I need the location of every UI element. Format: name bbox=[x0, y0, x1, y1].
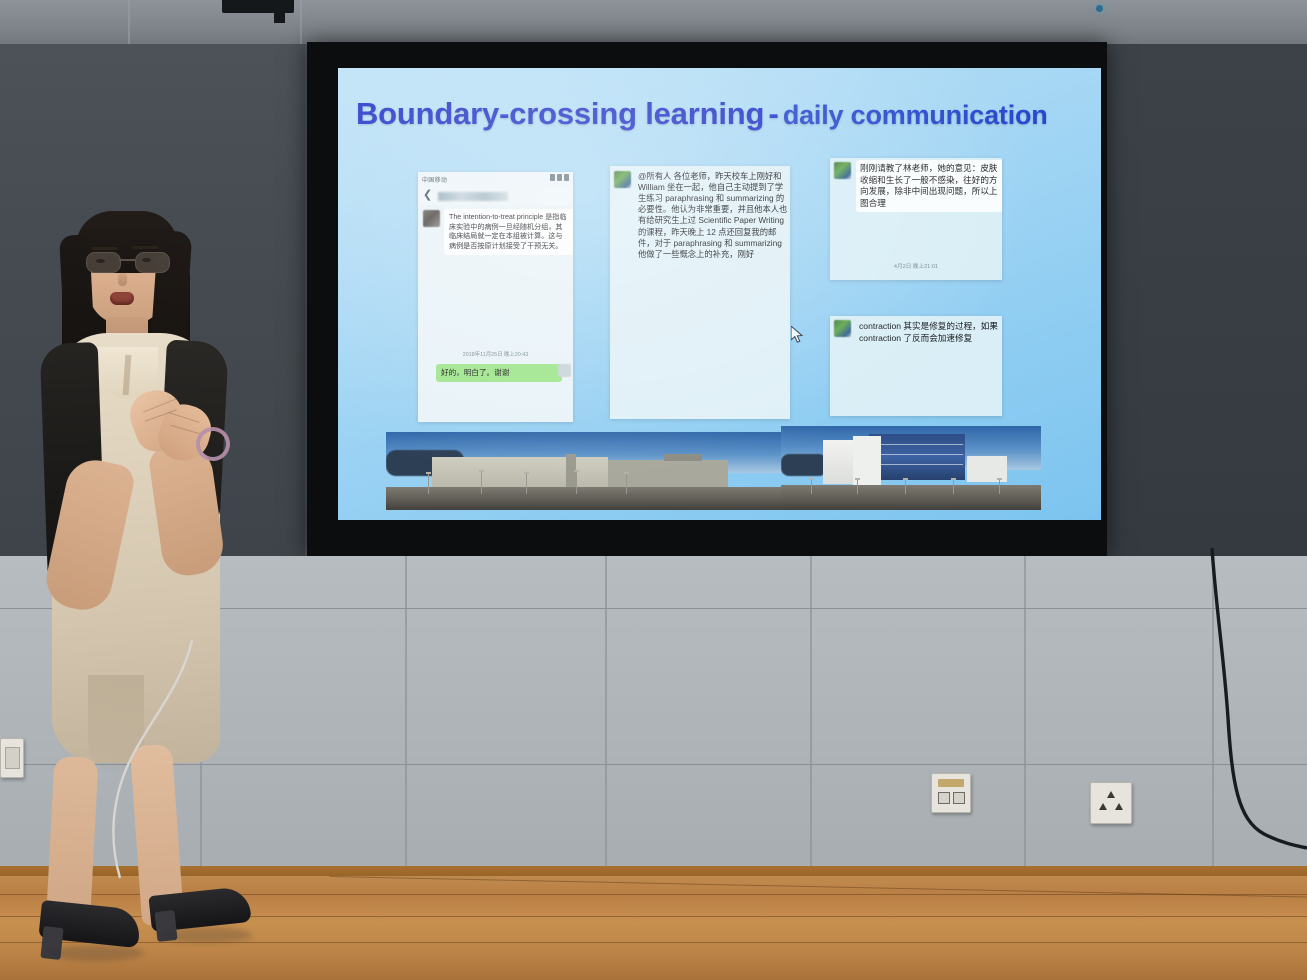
carrier-label: 中国移动 bbox=[422, 175, 447, 184]
wall-panel-seam bbox=[405, 556, 407, 876]
jack-port bbox=[953, 792, 965, 804]
campus-photo-left bbox=[386, 432, 781, 510]
ceiling bbox=[0, 0, 1307, 48]
chat-bubble-incoming: contraction 其实是修复的过程，如果 contraction 了反而会… bbox=[856, 319, 1002, 346]
wall-panel-seam bbox=[605, 556, 607, 876]
ceiling-indicator-light bbox=[1096, 5, 1103, 12]
treeline bbox=[781, 454, 827, 476]
socket-pin bbox=[1107, 791, 1115, 798]
contact-name-blurred bbox=[438, 192, 508, 201]
avatar bbox=[614, 171, 631, 188]
slide-title-part2: daily communication bbox=[783, 100, 1048, 130]
ground bbox=[781, 485, 1041, 510]
ceiling-seam bbox=[128, 0, 130, 48]
mouth bbox=[110, 292, 134, 305]
building-detail bbox=[664, 454, 702, 461]
presentation-slide: Boundary-crossing learning - daily commu… bbox=[338, 68, 1101, 520]
power-socket-wall-plate bbox=[1090, 782, 1132, 824]
chat-timestamp: 2018年11月25日 晚上20:43 bbox=[418, 350, 573, 358]
building-tower-blue bbox=[869, 434, 965, 480]
chat-screenshot-panel-2: @所有人 各位老师，昨天校车上刚好和 William 坐在一起，他自己主动提到了… bbox=[610, 166, 790, 419]
microphone-cable bbox=[96, 640, 216, 890]
phone-status-bar: 中国移动 bbox=[418, 172, 573, 187]
avatar bbox=[558, 364, 571, 377]
socket-pin bbox=[1115, 803, 1123, 810]
chat-bubble-outgoing: 好的，明白了。谢谢 bbox=[436, 364, 562, 382]
ceiling-seam bbox=[300, 0, 302, 48]
chat-screenshot-panel-3: 刚刚请教了林老师，她的意见：皮肤收缩和生长了一般不感染，往好的方向发展，除非中间… bbox=[830, 158, 1002, 280]
chat-nav-bar: ❮ bbox=[418, 187, 573, 205]
slide-title: Boundary-crossing learning - daily commu… bbox=[356, 96, 1086, 132]
ceiling-mount-bracket bbox=[222, 0, 294, 13]
chat-screenshot-panel-4: contraction 其实是修复的过程，如果 contraction 了反而会… bbox=[830, 316, 1002, 416]
lecture-hall-photo: Boundary-crossing learning - daily commu… bbox=[0, 0, 1307, 980]
upper-wall-right-section bbox=[1100, 44, 1307, 556]
chat-screenshot-panel-1: 中国移动 ❮ The intention-to-treat principle … bbox=[418, 172, 573, 422]
chat-bubble-incoming: @所有人 各位老师，昨天校车上刚好和 William 坐在一起，他自己主动提到了… bbox=[636, 169, 790, 262]
ground bbox=[386, 487, 781, 510]
jack-port bbox=[938, 792, 950, 804]
back-chevron-icon[interactable]: ❮ bbox=[423, 190, 432, 201]
wall-cable bbox=[1180, 548, 1307, 878]
wall-panel-seam bbox=[1024, 556, 1026, 876]
data-jack-wall-plate bbox=[931, 773, 971, 813]
signal-icon bbox=[550, 174, 555, 181]
avatar bbox=[834, 320, 851, 337]
avatar bbox=[423, 210, 440, 227]
wifi-icon bbox=[557, 174, 562, 181]
chat-bubble-incoming: The intention-to-treat principle 是指临床实验中… bbox=[444, 209, 573, 255]
label-strip bbox=[938, 779, 964, 787]
chat-bubble-incoming: 刚刚请教了林老师，她的意见：皮肤收缩和生长了一般不感染，往好的方向发展，除非中间… bbox=[856, 160, 1002, 212]
avatar bbox=[834, 162, 851, 179]
nose bbox=[118, 273, 127, 286]
campus-photo-right bbox=[781, 426, 1041, 510]
status-icons bbox=[550, 174, 569, 181]
chat-timestamp: 4月2日 晚上21:01 bbox=[830, 262, 1002, 270]
mouse-pointer-icon bbox=[791, 326, 805, 344]
slide-title-part1: Boundary-crossing learning bbox=[356, 96, 764, 131]
slide-title-separator: - bbox=[768, 96, 778, 131]
battery-icon bbox=[564, 174, 569, 181]
wall-panel-seam bbox=[810, 556, 812, 876]
socket-pin bbox=[1099, 803, 1107, 810]
